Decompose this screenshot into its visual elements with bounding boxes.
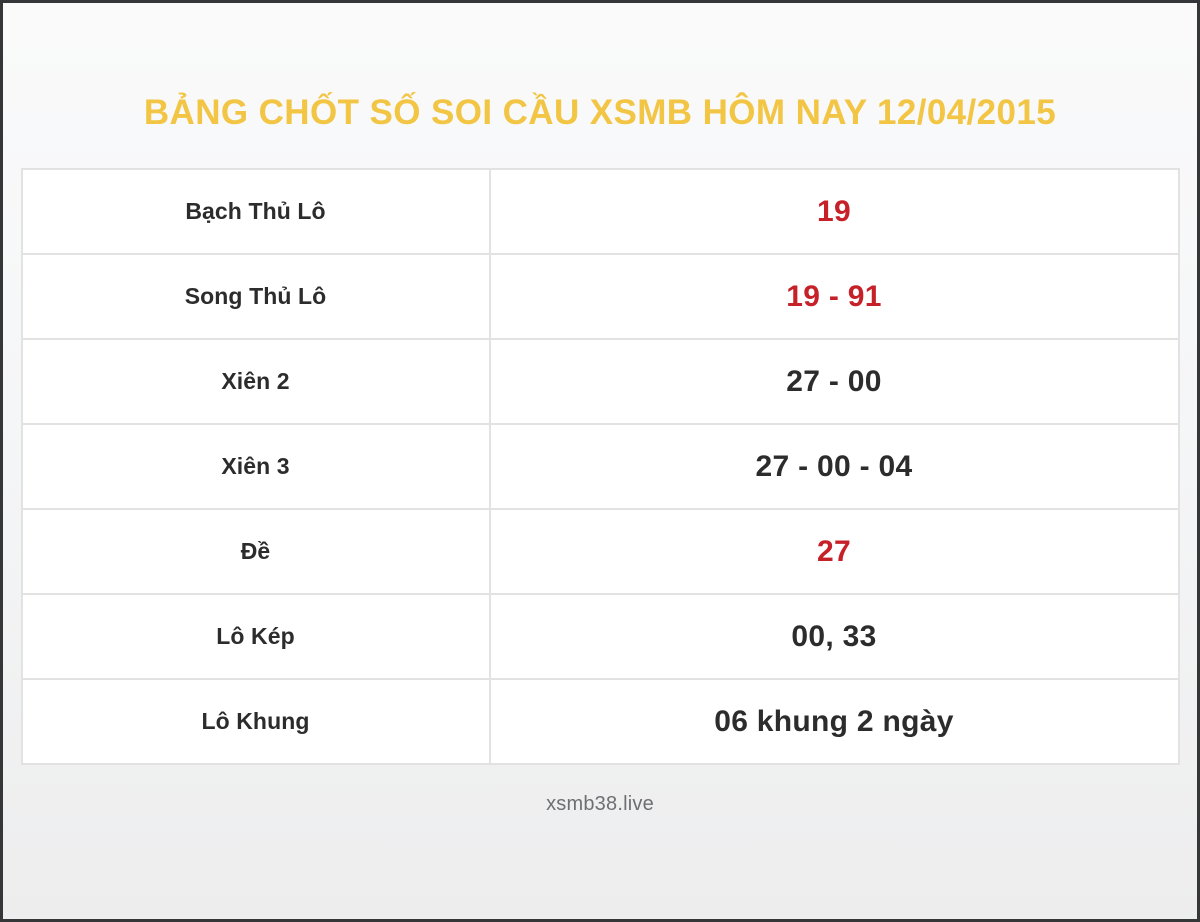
row-label: Lô Kép xyxy=(216,623,295,649)
row-label: Xiên 2 xyxy=(221,368,289,394)
row-value: 19 - 91 xyxy=(786,280,882,313)
table-cell-value: 19 - 91 xyxy=(490,254,1179,339)
table-row: Xiên 3 27 - 00 - 04 xyxy=(22,424,1179,509)
table-cell-value: 27 - 00 xyxy=(490,339,1179,424)
row-value: 06 khung 2 ngày xyxy=(714,705,954,738)
row-label: Song Thủ Lô xyxy=(185,283,327,309)
table-row: Đề 27 xyxy=(22,509,1179,594)
table-cell-value: 27 - 00 - 04 xyxy=(490,424,1179,509)
table-cell-label: Lô Kép xyxy=(22,594,490,679)
row-value: 00, 33 xyxy=(791,620,876,653)
row-label: Xiên 3 xyxy=(221,453,289,479)
table-cell-label: Xiên 2 xyxy=(22,339,490,424)
page-title: BẢNG CHỐT SỐ SOI CẦU XSMB HÔM NAY 12/04/… xyxy=(144,95,1056,130)
table-row: Song Thủ Lô 19 - 91 xyxy=(22,254,1179,339)
row-label: Đề xyxy=(241,538,271,564)
prediction-table: Bạch Thủ Lô 19 Song Thủ Lô 19 - 91 Xiên … xyxy=(21,168,1180,765)
table-row: Lô Khung 06 khung 2 ngày xyxy=(22,679,1179,764)
table-cell-label: Lô Khung xyxy=(22,679,490,764)
table-cell-label: Đề xyxy=(22,509,490,594)
table-row: Bạch Thủ Lô 19 xyxy=(22,169,1179,254)
row-value: 27 xyxy=(817,535,851,568)
table-cell-label: Xiên 3 xyxy=(22,424,490,509)
table-cell-value: 19 xyxy=(490,169,1179,254)
row-value: 27 - 00 - 04 xyxy=(755,450,912,483)
row-value: 19 xyxy=(817,195,851,228)
row-label: Bạch Thủ Lô xyxy=(185,198,325,224)
row-value: 27 - 00 xyxy=(786,365,882,398)
page-frame: BẢNG CHỐT SỐ SOI CẦU XSMB HÔM NAY 12/04/… xyxy=(0,0,1200,922)
table-cell-label: Bạch Thủ Lô xyxy=(22,169,490,254)
row-label: Lô Khung xyxy=(201,708,309,734)
site-watermark: xsmb38.live xyxy=(546,793,654,816)
table-cell-value: 00, 33 xyxy=(490,594,1179,679)
table-cell-value: 06 khung 2 ngày xyxy=(490,679,1179,764)
table-row: Lô Kép 00, 33 xyxy=(22,594,1179,679)
prediction-table-body: Bạch Thủ Lô 19 Song Thủ Lô 19 - 91 Xiên … xyxy=(22,169,1179,764)
table-cell-value: 27 xyxy=(490,509,1179,594)
table-row: Xiên 2 27 - 00 xyxy=(22,339,1179,424)
table-cell-label: Song Thủ Lô xyxy=(22,254,490,339)
